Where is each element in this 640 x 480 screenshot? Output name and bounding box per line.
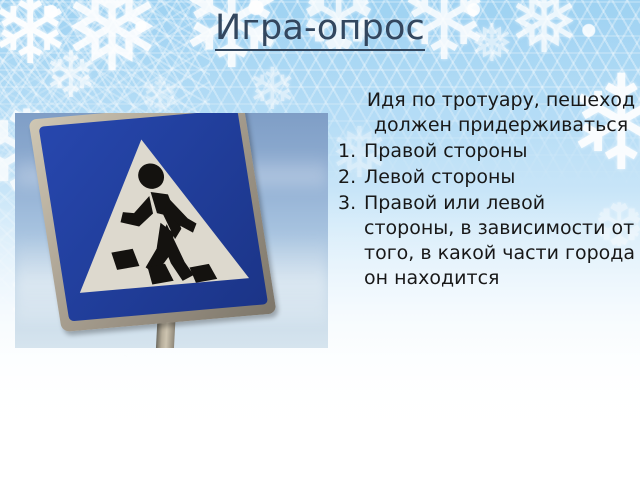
quiz-content: Идя по тротуару, пешеход должен придержи… xyxy=(338,88,638,292)
page-title-text: Игра-опрос xyxy=(215,8,425,51)
page-title: Игра-опрос xyxy=(0,8,640,51)
slide: ❄ ❅ ❄ ❆ ❄ ❅ ❄ ❆ ❄ ❅ ❄ ❆ ❄ ❅ ❄ Игра-опрос xyxy=(0,0,640,480)
pedestrian-icon xyxy=(39,113,269,321)
answer-option-1-number: 1. xyxy=(338,139,364,164)
pedestrian-crossing-sign xyxy=(28,113,276,332)
answer-option-2[interactable]: 2. Левой стороны xyxy=(338,165,638,190)
snowflake-icon: ❄ xyxy=(44,44,98,108)
road-sign-photo xyxy=(15,113,328,348)
snowflake-icon: ❄ xyxy=(248,60,297,118)
answer-option-1-label: Правой стороны xyxy=(364,139,638,164)
answer-option-3-number: 3. xyxy=(338,191,364,216)
sign-face xyxy=(39,113,269,321)
answer-option-3-label: Правой или левой стороны, в зависимости … xyxy=(364,191,638,291)
question-text: Идя по тротуару, пешеход должен придержи… xyxy=(364,88,638,138)
answer-option-2-number: 2. xyxy=(338,165,364,190)
answer-option-1[interactable]: 1. Правой стороны xyxy=(338,139,638,164)
answer-options-list: 1. Правой стороны 2. Левой стороны 3. Пр… xyxy=(338,139,638,291)
answer-option-2-label: Левой стороны xyxy=(364,165,638,190)
answer-option-3[interactable]: 3. Правой или левой стороны, в зависимос… xyxy=(338,191,638,291)
